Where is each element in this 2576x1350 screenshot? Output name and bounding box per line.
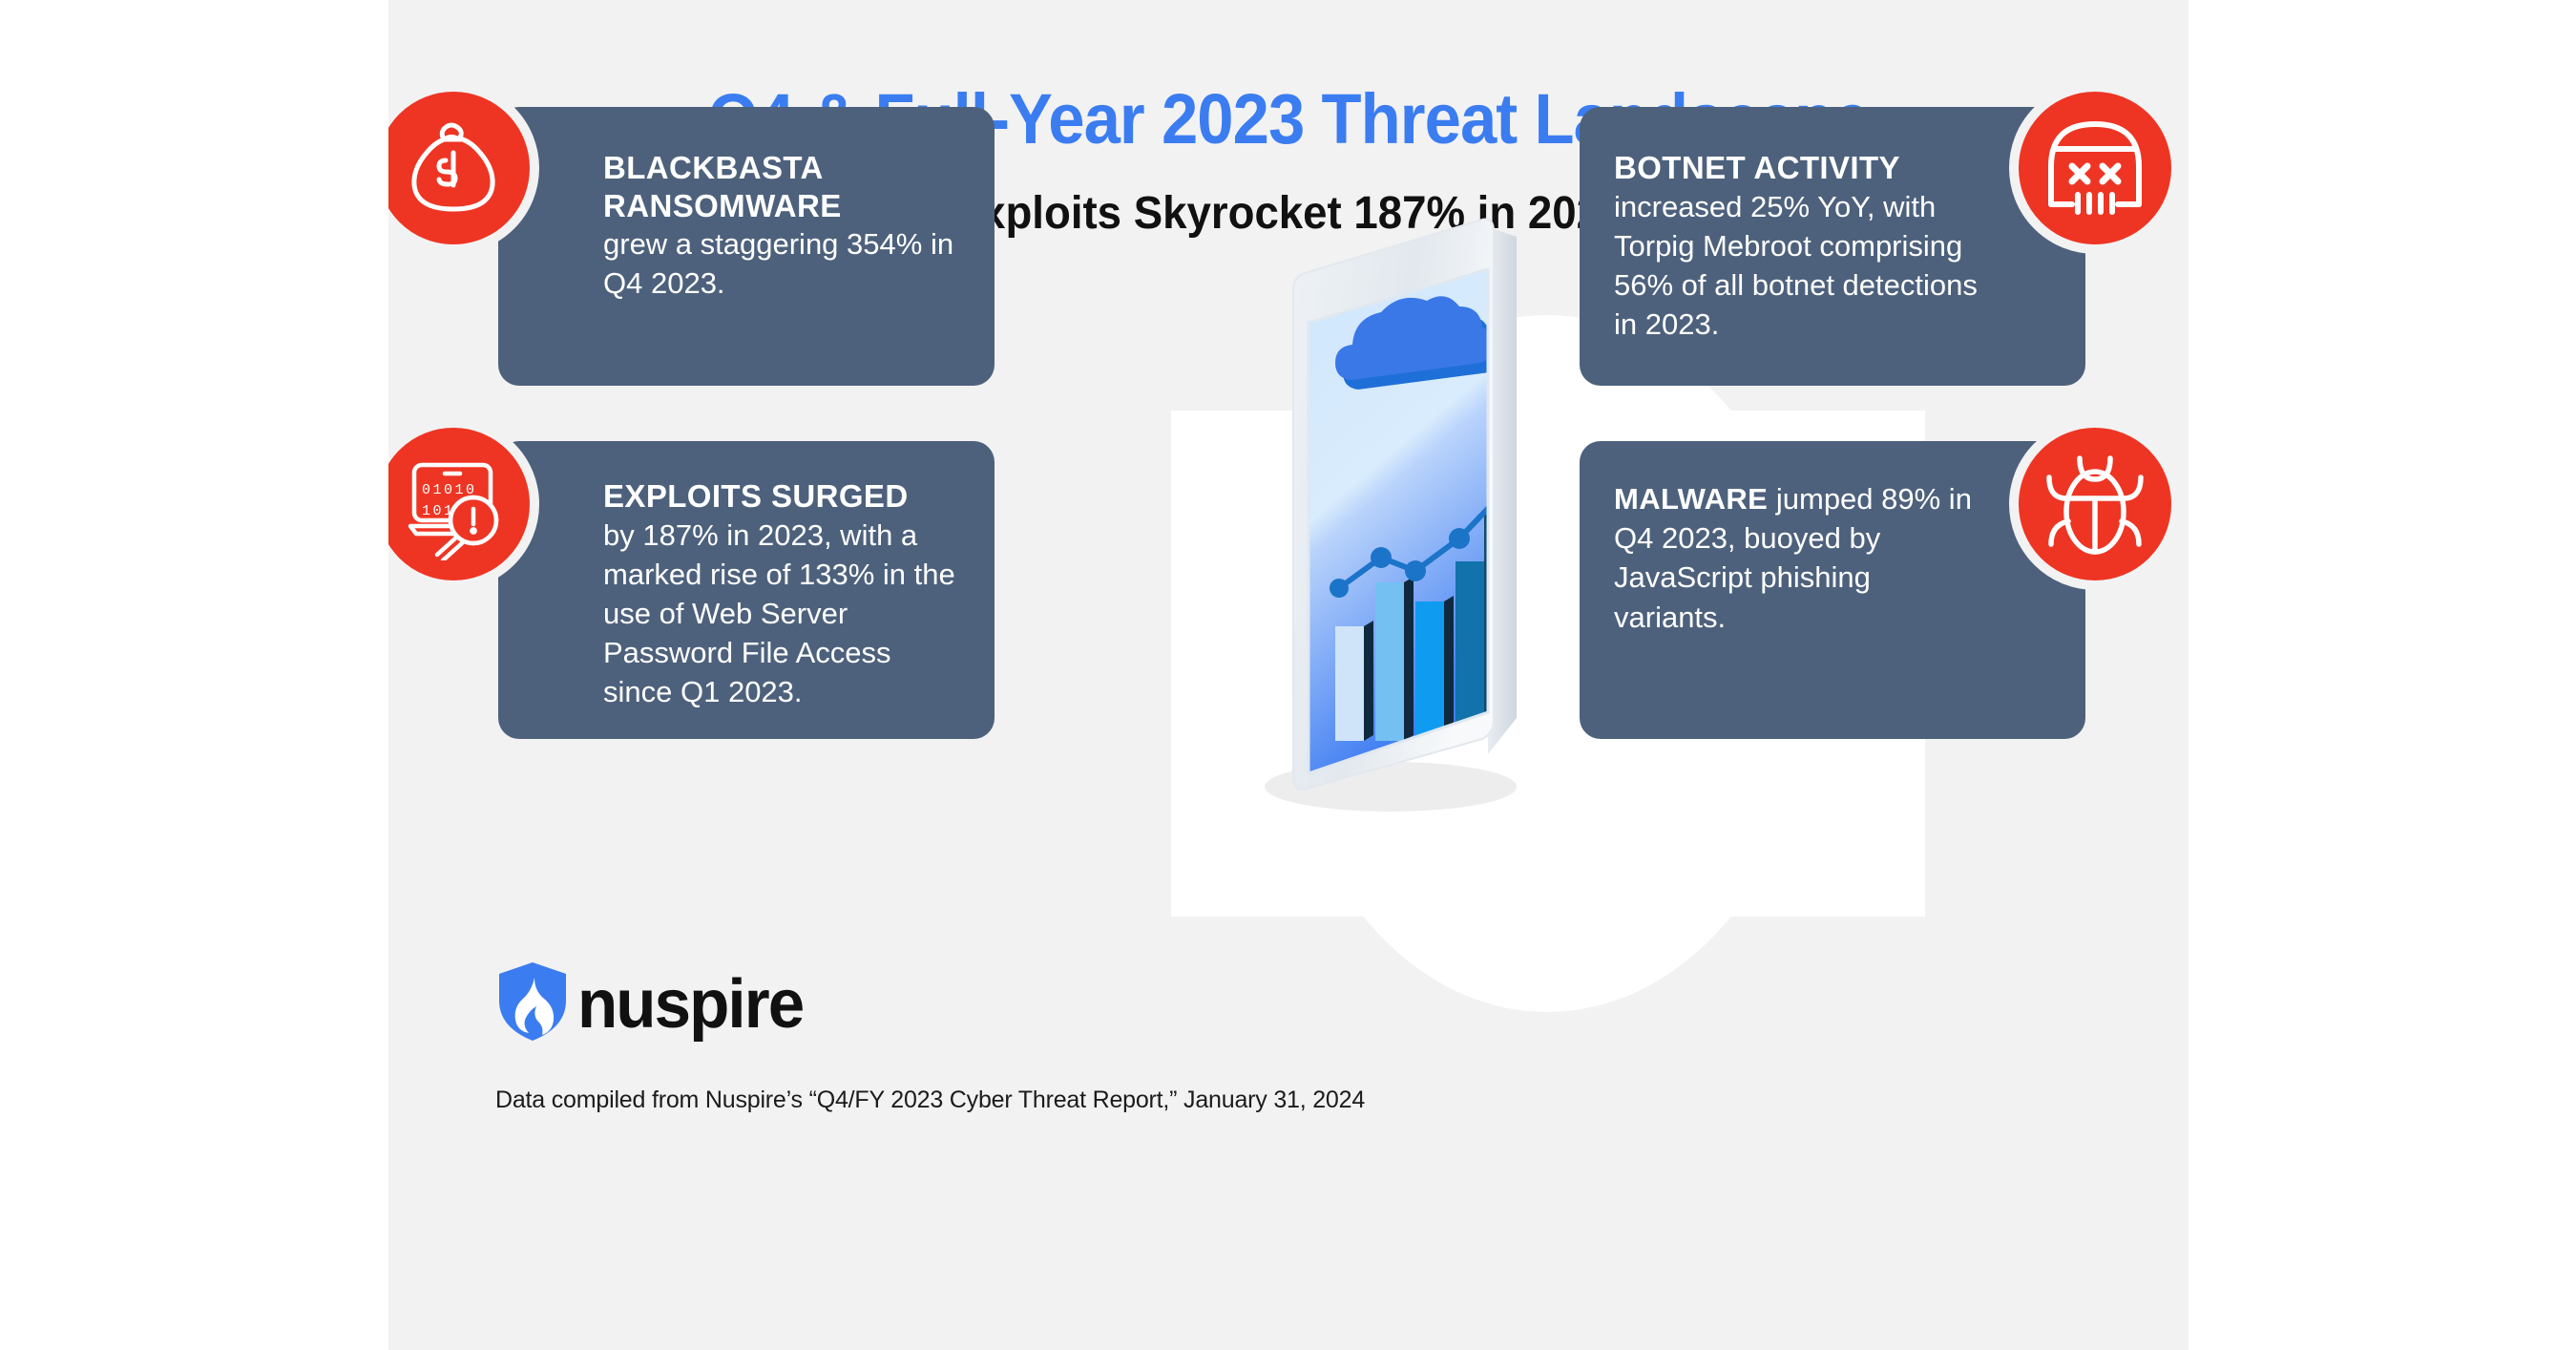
card-blackbasta-ransomware[interactable]: BLACKBASTA RANSOMWARE grew a staggering … — [498, 107, 995, 386]
card-malware[interactable]: MALWARE jumped 89% in Q4 2023, buoyed by… — [1580, 441, 2085, 739]
card-body: increased 25% YoY, with Torpig Mebroot c… — [1614, 190, 1978, 342]
nuspire-wordmark: nuspire — [577, 970, 803, 1039]
card-headline: BLACKBASTA RANSOMWARE — [603, 149, 962, 224]
content-panel: Q4 & Full-Year 2023 Threat Landscape Exp… — [388, 0, 2189, 1350]
infographic-canvas: Q4 & Full-Year 2023 Threat Landscape Exp… — [0, 0, 2576, 1350]
card-botnet-activity[interactable]: BOTNET ACTIVITY increased 25% YoY, with … — [1580, 107, 2085, 386]
shield-flame-icon — [495, 960, 570, 1047]
card-text: BLACKBASTA RANSOMWARE grew a staggering … — [603, 149, 962, 304]
card-text: EXPLOITS SURGED by 187% in 2023, with a … — [603, 477, 962, 712]
card-body: grew a staggering 354% in Q4 2023. — [603, 227, 953, 300]
card-text: BOTNET ACTIVITY increased 25% YoY, with … — [1614, 149, 1980, 344]
card-headline: MALWARE — [1614, 482, 1768, 516]
card-headline: EXPLOITS SURGED — [603, 477, 962, 516]
skull-icon — [2009, 82, 2181, 254]
card-body: by 187% in 2023, with a marked rise of 1… — [603, 518, 955, 709]
source-note: Data compiled from Nuspire’s “Q4/FY 2023… — [495, 1086, 1365, 1114]
bug-icon — [2009, 418, 2181, 590]
phone-cloud-chart-illustration — [1247, 178, 1591, 827]
nuspire-logo[interactable]: nuspire — [495, 960, 812, 1047]
card-text: MALWARE jumped 89% in Q4 2023, buoyed by… — [1614, 479, 1980, 637]
card-exploits-surged[interactable]: EXPLOITS SURGED by 187% in 2023, with a … — [498, 441, 995, 739]
card-headline: BOTNET ACTIVITY — [1614, 149, 1980, 187]
